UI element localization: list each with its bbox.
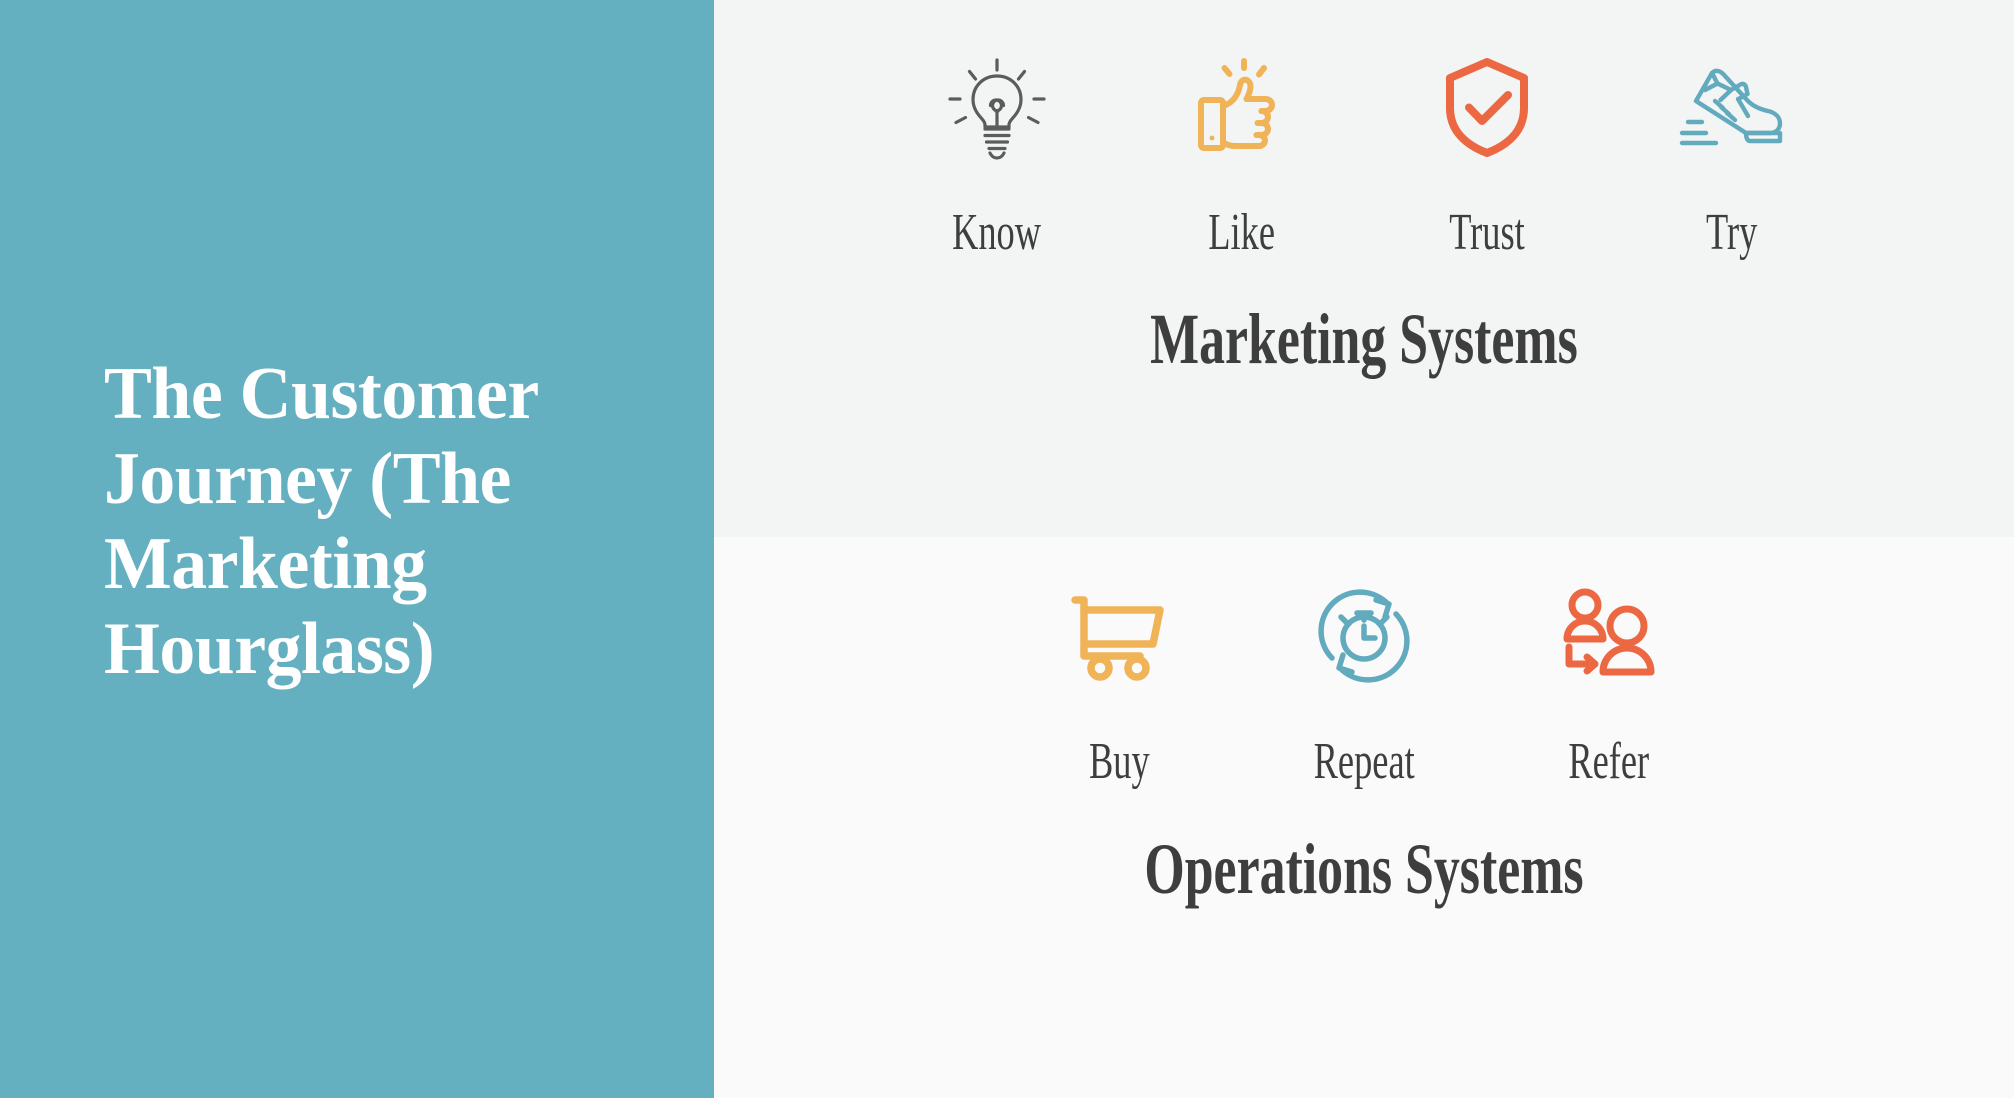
stage-label: Know — [952, 205, 1041, 261]
stage-refer[interactable]: Refer — [1487, 573, 1732, 790]
shield-check-icon — [1424, 44, 1549, 169]
stage-label: Trust — [1449, 205, 1525, 261]
operations-stage-row: Buy — [714, 573, 2014, 790]
stopwatch-repeat-icon — [1302, 573, 1427, 698]
stage-label: Try — [1706, 205, 1757, 261]
thumbs-up-icon — [1179, 44, 1304, 169]
stage-like[interactable]: Like — [1119, 44, 1364, 261]
title-sidebar: The Customer Journey (The Marketing Hour… — [0, 0, 714, 1098]
stage-repeat[interactable]: Repeat — [1242, 573, 1487, 790]
shopping-cart-icon — [1057, 573, 1182, 698]
referral-people-icon — [1547, 573, 1672, 698]
page-title: The Customer Journey (The Marketing Hour… — [104, 352, 589, 692]
heading-text: Marketing Systems — [1150, 300, 1578, 378]
stage-label: Like — [1208, 205, 1275, 261]
lightbulb-icon — [934, 44, 1059, 169]
stage-try[interactable]: Try — [1609, 44, 1854, 261]
stage-buy[interactable]: Buy — [997, 573, 1242, 790]
operations-systems-heading: Operations Systems — [714, 830, 2014, 908]
slide-canvas: The Customer Journey (The Marketing Hour… — [0, 0, 2014, 1098]
stage-label: Refer — [1569, 734, 1650, 790]
stage-label: Buy — [1089, 734, 1150, 790]
content-area: Know — [714, 0, 2014, 1098]
operations-systems-panel: Buy — [714, 537, 2014, 1098]
heading-text: Operations Systems — [1144, 830, 1583, 908]
sneaker-icon — [1669, 44, 1794, 169]
stage-know[interactable]: Know — [874, 44, 1119, 261]
marketing-stage-row: Know — [714, 44, 2014, 261]
marketing-systems-panel: Know — [714, 0, 2014, 537]
stage-trust[interactable]: Trust — [1364, 44, 1609, 261]
marketing-systems-heading: Marketing Systems — [714, 300, 2014, 378]
stage-label: Repeat — [1313, 734, 1414, 790]
